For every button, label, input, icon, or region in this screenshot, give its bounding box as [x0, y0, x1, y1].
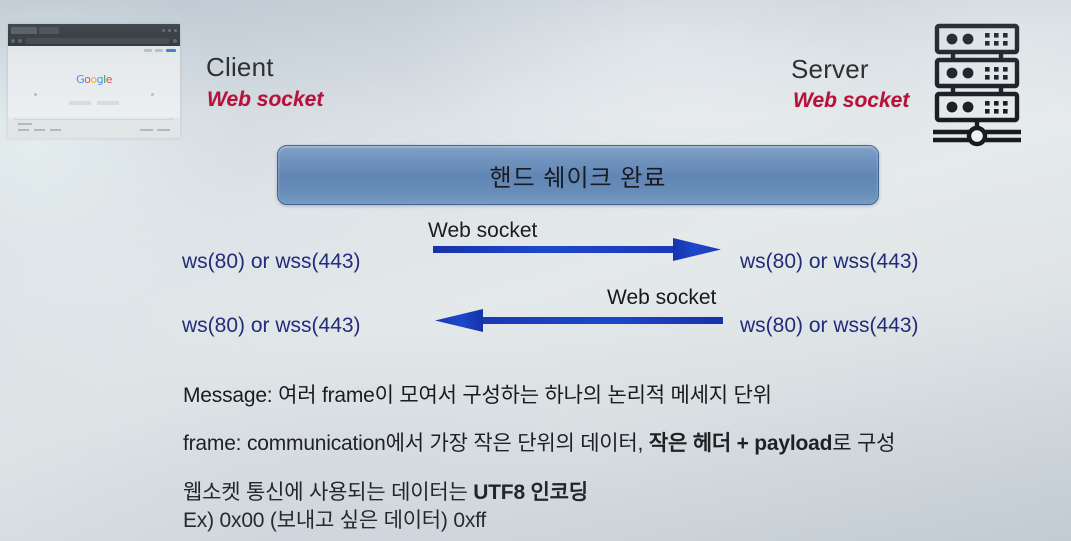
note-frame-suffix: 로 구성 — [832, 432, 895, 455]
footer-country — [18, 123, 32, 125]
browser-window-thumbnail: Google — [8, 24, 180, 138]
footer-link — [50, 129, 61, 131]
search-icon — [34, 93, 37, 96]
footer-link — [34, 129, 45, 131]
browser-address-bar — [8, 36, 180, 46]
google-logo: Google — [8, 73, 180, 86]
slide-canvas: Google Client Web socke — [0, 0, 1071, 541]
google-buttons — [8, 101, 180, 105]
note-example: Ex) 0x00 (보내고 싶은 데이터) 0xff — [183, 504, 486, 534]
client-port-label-2: ws(80) or wss(443) — [182, 314, 361, 338]
browser-tab-strip — [8, 24, 180, 36]
browser-tab — [39, 27, 59, 34]
lucky-button — [97, 101, 119, 105]
note-message: Message: 여러 frame이 모여서 구성하는 하나의 논리적 메세지 … — [183, 379, 772, 409]
server-port-label-1: ws(80) or wss(443) — [740, 250, 919, 274]
google-search-input — [34, 92, 154, 97]
note-frame-bold: 작은 헤더 + payload — [649, 432, 832, 455]
bookmark-item — [166, 49, 176, 52]
server-rack-icon — [927, 22, 1027, 150]
server-title: Server — [791, 54, 869, 85]
note-frame-prefix: frame: communication에서 가장 작은 단위의 데이터, — [183, 432, 649, 455]
minimize-icon — [162, 29, 165, 32]
footer-link — [18, 129, 29, 131]
bookmark-item — [155, 49, 163, 52]
server-subtitle: Web socket — [793, 89, 909, 113]
avatar — [173, 39, 177, 43]
arrow-left-icon — [433, 305, 723, 335]
note-utf8-bold: UTF8 인코딩 — [473, 481, 588, 504]
handshake-banner-label: 핸드 쉐이크 완료 — [490, 158, 667, 193]
browser-tab — [11, 27, 37, 34]
browser-bookmarks-bar — [8, 46, 180, 55]
client-port-label-1: ws(80) or wss(443) — [182, 250, 361, 274]
google-logo-letter: G — [76, 73, 84, 86]
client-title: Client — [206, 52, 274, 83]
close-icon — [174, 29, 177, 32]
browser-page-content: Google — [8, 55, 180, 117]
footer-link — [157, 129, 170, 131]
maximize-icon — [168, 29, 171, 32]
footer-link — [140, 129, 153, 131]
browser-page-footer — [14, 119, 174, 134]
handshake-banner: 핸드 쉐이크 완료 — [277, 145, 879, 205]
bookmark-item — [144, 49, 152, 52]
search-button — [69, 101, 91, 105]
url-input — [25, 38, 170, 44]
server-port-label-2: ws(80) or wss(443) — [740, 314, 919, 338]
footer-links-right — [140, 129, 170, 131]
note-utf8: 웹소켓 통신에 사용되는 데이터는 UTF8 인코딩 — [183, 476, 588, 506]
client-subtitle: Web socket — [207, 88, 323, 112]
footer-links-left — [18, 129, 61, 131]
note-utf8-prefix: 웹소켓 통신에 사용되는 데이터는 — [183, 481, 473, 504]
google-logo-letter: e — [106, 73, 112, 86]
arrow-right-icon — [433, 234, 723, 264]
back-icon — [11, 39, 15, 43]
note-frame: frame: communication에서 가장 작은 단위의 데이터, 작은… — [183, 427, 895, 457]
microphone-icon — [151, 93, 154, 96]
browser-window-controls — [162, 29, 177, 32]
forward-icon — [18, 39, 22, 43]
